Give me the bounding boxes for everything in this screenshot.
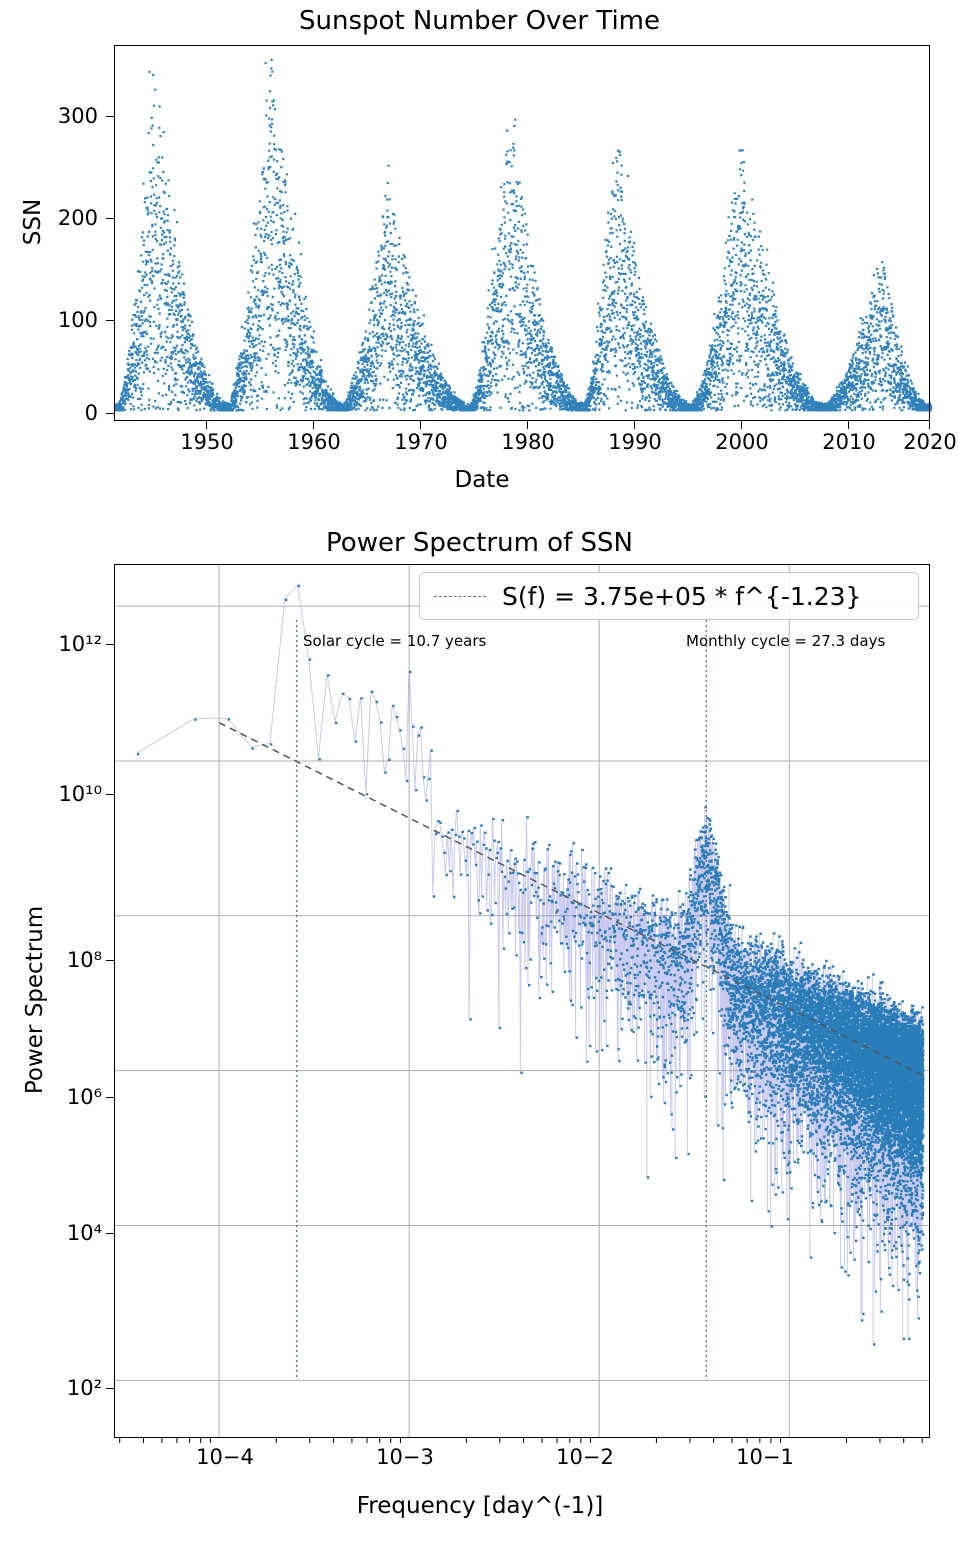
xtick-mark — [206, 421, 207, 429]
figure-canvas: Sunspot Number Over Time 0 100 200 300 1… — [0, 0, 959, 1560]
ytick-mark — [106, 1233, 114, 1234]
ytick-mark — [106, 644, 114, 645]
xtick-label: 10−2 — [540, 1445, 630, 1469]
xtick-label: 1950 — [167, 430, 247, 454]
xtick-label: 1980 — [488, 430, 568, 454]
ytick-label: 10¹⁰ — [0, 782, 102, 806]
xtick-mark — [848, 421, 849, 429]
axes-frame-top — [114, 45, 930, 421]
xtick-mark — [527, 421, 528, 429]
ytick-label: 100 — [18, 308, 98, 332]
xtick-label: 1990 — [595, 430, 675, 454]
ytick-label: 300 — [18, 104, 98, 128]
xtick-mark — [741, 421, 742, 429]
panel-power-spectrum: Power Spectrum of SSN S(f) = 3.75e+05 * … — [0, 510, 959, 1560]
xtick-label: 1960 — [274, 430, 354, 454]
ytick-label: 10⁸ — [0, 948, 102, 972]
ytick-mark — [106, 794, 114, 795]
xaxis-title: Date — [427, 467, 537, 493]
legend-dashed-line-icon — [434, 596, 486, 597]
xtick-mark — [420, 421, 421, 429]
ytick-label: 10⁶ — [0, 1085, 102, 1109]
annotation-solar-cycle: Solar cycle = 10.7 years — [303, 632, 486, 650]
xtick-label: 10−3 — [360, 1445, 450, 1469]
xtick-label: 2000 — [702, 430, 782, 454]
ytick-mark — [106, 1388, 114, 1389]
ytick-mark — [106, 116, 114, 117]
xtick-label: 1970 — [381, 430, 461, 454]
panel-sunspot-timeseries: Sunspot Number Over Time 0 100 200 300 1… — [0, 0, 959, 510]
xtick-label: 2020 — [890, 430, 959, 454]
ytick-mark — [106, 960, 114, 961]
xtick-mark — [634, 421, 635, 429]
axes-frame-bottom — [114, 564, 930, 1438]
xtick-mark — [929, 421, 930, 429]
ytick-label: 0 — [18, 401, 98, 425]
ytick-mark — [106, 218, 114, 219]
ytick-mark — [106, 1097, 114, 1098]
xtick-label: 10−4 — [180, 1445, 270, 1469]
yaxis-title: SSN — [20, 182, 46, 262]
legend[interactable]: S(f) = 3.75e+05 * f^{-1.23} — [419, 572, 919, 620]
ytick-label: 10⁴ — [0, 1221, 102, 1245]
xtick-mark — [313, 421, 314, 429]
xaxis-title: Frequency [day^(-1)] — [354, 1493, 606, 1519]
ytick-mark — [106, 413, 114, 414]
annotation-monthly-cycle: Monthly cycle = 27.3 days — [686, 632, 885, 650]
ytick-label: 10² — [0, 1376, 102, 1400]
ytick-mark — [106, 320, 114, 321]
xtick-label: 10−1 — [720, 1445, 810, 1469]
yaxis-title: Power Spectrum — [22, 875, 48, 1125]
xtick-label: 2010 — [809, 430, 889, 454]
ytick-label: 10¹² — [0, 632, 102, 656]
legend-label: S(f) = 3.75e+05 * f^{-1.23} — [502, 582, 861, 611]
